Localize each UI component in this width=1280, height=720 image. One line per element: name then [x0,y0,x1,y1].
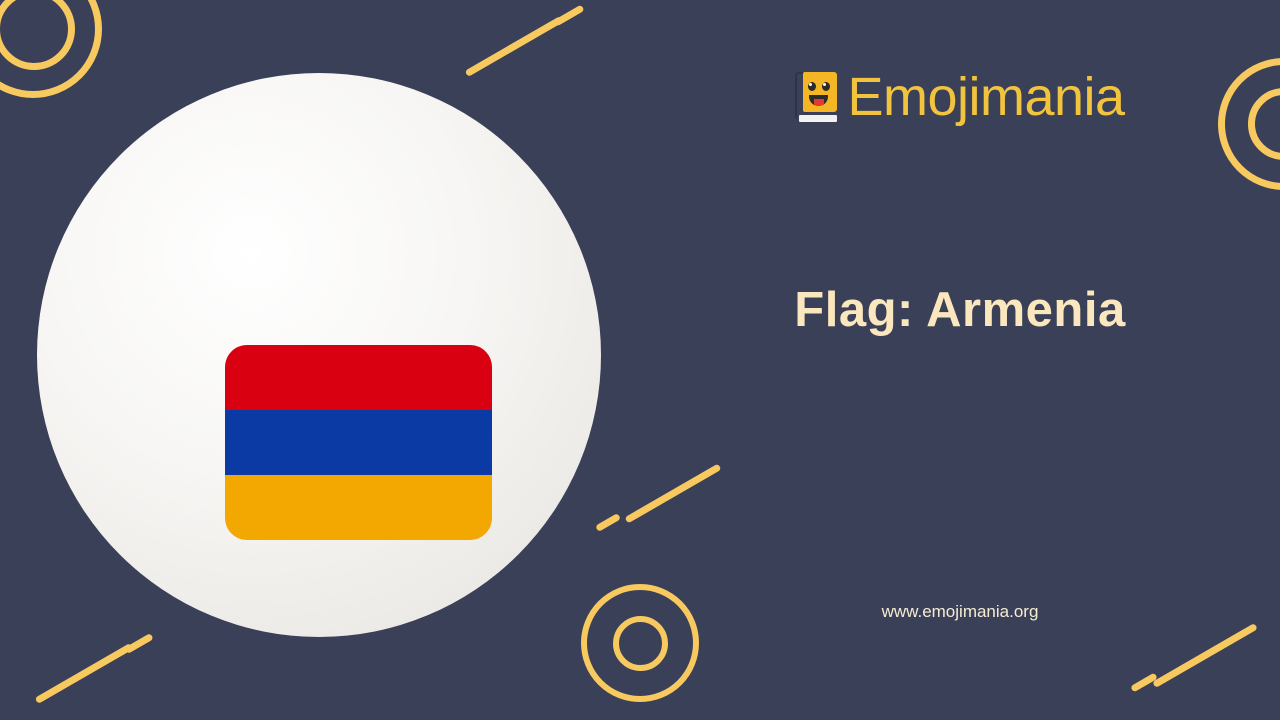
dash-bottom-left-long-icon [35,643,134,704]
flag-stripe-orange [225,475,492,540]
dash-top-center-long-icon [465,16,564,77]
brand-logo[interactable]: Emojimania [640,70,1280,124]
dash-middle-right-short-icon [595,513,621,532]
dash-top-center-short-icon [553,4,584,26]
smiley-tongue [814,99,824,106]
book-pages [797,113,839,124]
book-cover [803,72,837,112]
emoji-showcase-disc [37,73,601,637]
site-url: www.emojimania.org [640,602,1280,622]
armenia-flag-icon [225,345,492,540]
ring-bottom-center-inner-icon [613,616,668,671]
emoji-card: Emojimania Flag: Armenia www.emojimania.… [0,0,1280,720]
dash-middle-right-long-icon [624,463,721,523]
brand-name: Emojimania [847,70,1124,124]
flag-stripe-blue [225,410,492,475]
open-book-smiley-icon [795,70,841,124]
emoji-title: Flag: Armenia [640,282,1280,338]
dash-bottom-right-long-icon [1152,623,1258,688]
flag-stripe-red [225,345,492,410]
